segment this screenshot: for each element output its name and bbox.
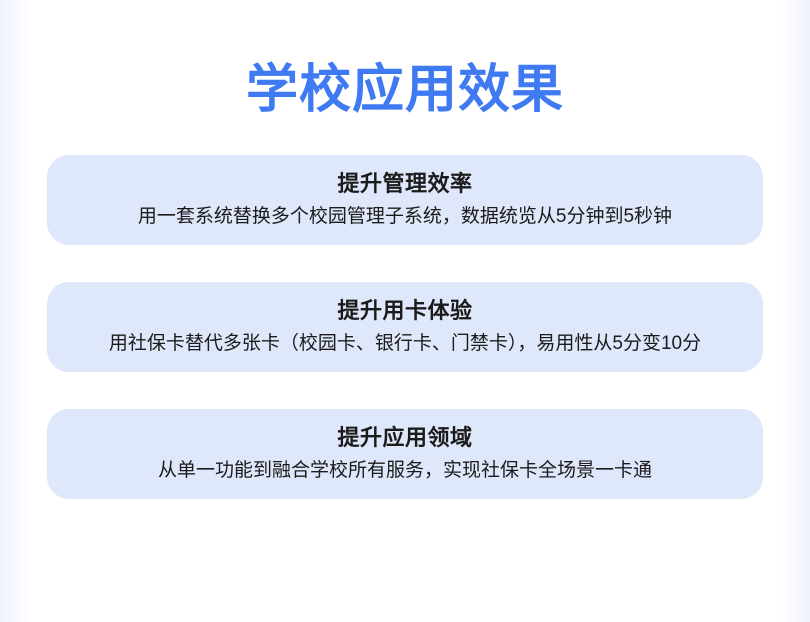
effect-card-list: 提升管理效率 用一套系统替换多个校园管理子系统，数据统览从5分钟到5秒钟 提升用… <box>40 148 770 529</box>
card-body-container: 提升管理效率 用一套系统替换多个校园管理子系统，数据统览从5分钟到5秒钟 <box>47 155 763 245</box>
page-title: 学校应用效果 <box>0 62 810 118</box>
card-description: 从单一功能到融合学校所有服务，实现社保卡全场景一卡通 <box>158 457 652 485</box>
card-heading: 提升应用领域 <box>337 423 472 453</box>
effect-card-card-experience: 提升用卡体验 用社保卡替代多张卡（校园卡、银行卡、门禁卡），易用性从5分变10分 <box>40 275 770 379</box>
effect-card-management-efficiency: 提升管理效率 用一套系统替换多个校园管理子系统，数据统览从5分钟到5秒钟 <box>40 148 770 252</box>
card-heading: 提升管理效率 <box>337 169 472 199</box>
card-body-container: 提升应用领域 从单一功能到融合学校所有服务，实现社保卡全场景一卡通 <box>47 409 763 499</box>
card-description: 用社保卡替代多张卡（校园卡、银行卡、门禁卡），易用性从5分变10分 <box>109 330 701 358</box>
card-description: 用一套系统替换多个校园管理子系统，数据统览从5分钟到5秒钟 <box>138 203 672 231</box>
card-body-container: 提升用卡体验 用社保卡替代多张卡（校园卡、银行卡、门禁卡），易用性从5分变10分 <box>47 282 763 372</box>
effect-card-application-scope: 提升应用领域 从单一功能到融合学校所有服务，实现社保卡全场景一卡通 <box>40 402 770 506</box>
card-heading: 提升用卡体验 <box>337 296 472 326</box>
school-application-effect-page: 学校应用效果 提升管理效率 用一套系统替换多个校园管理子系统，数据统览从5分钟到… <box>0 0 810 622</box>
